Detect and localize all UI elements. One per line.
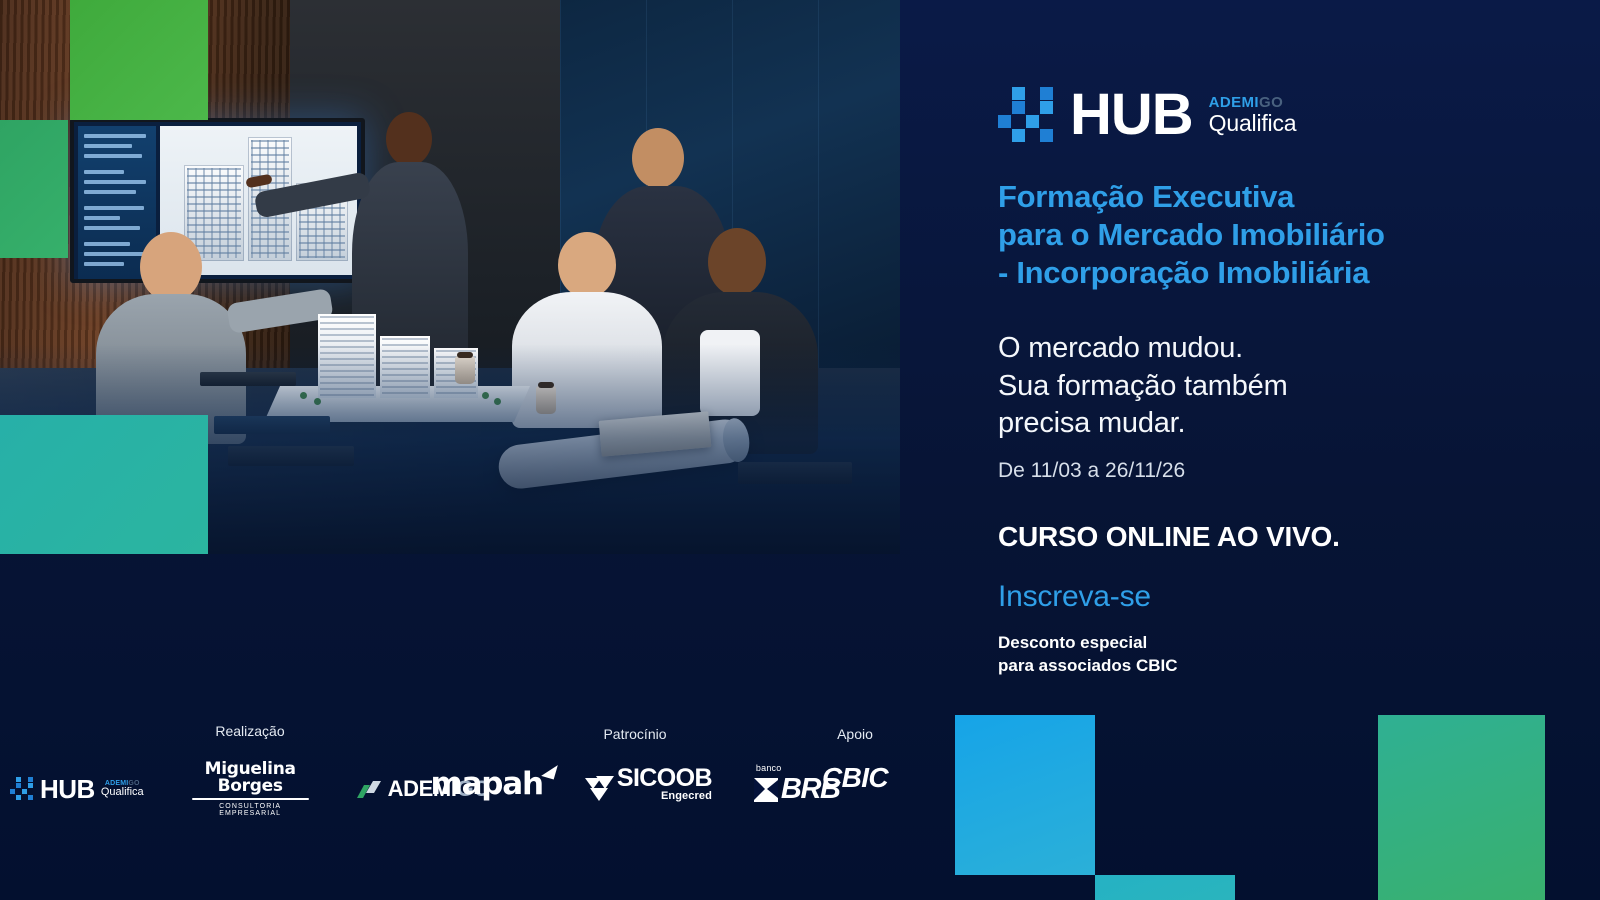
ademigo-arrow-glyph	[357, 781, 383, 798]
patrocinio-title: Patrocínio	[470, 726, 800, 742]
patrocinio-group: Patrocínio mapah SICOOB Engecred	[470, 726, 800, 804]
mapah-swoosh-icon	[541, 761, 558, 779]
subhead-line-2: Sua formação também	[998, 368, 1468, 406]
sicoob-text: SICOOB Engecred	[617, 766, 712, 802]
sicoob-engecred-logo: SICOOB Engecred	[585, 766, 712, 802]
course-format-label: CURSO ONLINE AO VIVO.	[998, 521, 1340, 553]
page-title: Formação Executiva para o Mercado Imobil…	[998, 178, 1468, 291]
sicoob-mark-icon	[585, 776, 613, 802]
decor-block-teal-left	[0, 415, 208, 554]
decor-block-green-right	[1378, 715, 1545, 900]
headline-line-3: - Incorporação Imobiliária	[998, 254, 1468, 292]
ademigo-qualifica-sub: ADEMIGO Qualifica	[1209, 95, 1297, 135]
qualifica-sub: ADEMIGO Qualifica	[101, 780, 144, 799]
discount-line-2: para associados CBIC	[998, 654, 1178, 677]
qualifica-label: Qualifica	[1209, 111, 1297, 135]
headline-line-1: Formação Executiva	[998, 178, 1468, 216]
ademigo-mark-icon	[357, 781, 383, 798]
sponsor-footer: Realização HUB ADEMIGO	[0, 715, 900, 900]
realizacao-title: Realização	[10, 723, 490, 739]
apoio-logos: CBIC	[780, 764, 930, 792]
patrocinio-logos: mapah SICOOB Engecred banco	[470, 764, 800, 804]
decor-block-green-mid	[0, 120, 68, 258]
go-text: GO	[1259, 94, 1283, 111]
decor-block-teal-bottom	[1095, 875, 1235, 900]
logo-divider	[192, 798, 309, 800]
miguelina-borges-tagline: CONSULTORIA EMPRESARIAL	[192, 803, 309, 817]
qualifica-text: Qualifica	[101, 787, 144, 799]
miguelina-borges-logo: Miguelina Borges CONSULTORIA EMPRESARIAL	[192, 761, 309, 817]
decor-block-green-top	[70, 0, 208, 120]
course-dates: De 11/03 a 26/11/26	[998, 459, 1185, 483]
banner-stage: HUB ADEMIGO Qualifica Formação Executiva…	[0, 0, 1600, 900]
discount-line-1: Desconto especial	[998, 631, 1178, 654]
hub-ademigo-qualifica-logo: HUB ADEMIGO Qualifica	[10, 776, 144, 802]
subheadline: O mercado mudou. Sua formação também pre…	[998, 330, 1468, 443]
discount-note: Desconto especial para associados CBIC	[998, 631, 1178, 678]
apoio-group: Apoio CBIC	[780, 726, 930, 792]
hub-wordmark: HUB	[40, 776, 95, 802]
brand-lockup: HUB ADEMIGO Qualifica	[998, 86, 1296, 144]
ademi-text: ADEMI	[1209, 94, 1259, 111]
cbic-logo: CBIC	[822, 764, 888, 792]
miguelina-borges-name: Miguelina Borges	[192, 761, 309, 795]
subhead-line-3: precisa mudar.	[998, 405, 1468, 443]
ademigo-label: ADEMIGO	[1209, 95, 1297, 111]
realizacao-logos: HUB ADEMIGO Qualifica Miguelina Borges C…	[10, 761, 490, 817]
content-column: HUB ADEMIGO Qualifica Formação Executiva…	[998, 0, 1558, 715]
brb-mark-icon	[754, 778, 778, 802]
hub-pixel-logo-icon	[998, 87, 1054, 143]
hub-wordmark: HUB	[1070, 86, 1193, 144]
mapah-logo: mapah	[430, 769, 542, 800]
hub-pixel-logo-icon	[10, 777, 34, 801]
enroll-link[interactable]: Inscreva-se	[998, 580, 1151, 614]
engecred-sublabel: Engecred	[617, 791, 712, 802]
subhead-line-1: O mercado mudou.	[998, 330, 1468, 368]
mapah-wordmark: mapah	[430, 766, 542, 802]
decor-block-blue-bottom	[955, 715, 1095, 875]
headline-line-2: para o Mercado Imobiliário	[998, 216, 1468, 254]
apoio-title: Apoio	[780, 726, 930, 742]
realizacao-group: Realização HUB ADEMIGO	[10, 723, 490, 817]
sicoob-wordmark: SICOOB	[617, 766, 712, 791]
brb-envelope-glyph	[754, 778, 778, 802]
